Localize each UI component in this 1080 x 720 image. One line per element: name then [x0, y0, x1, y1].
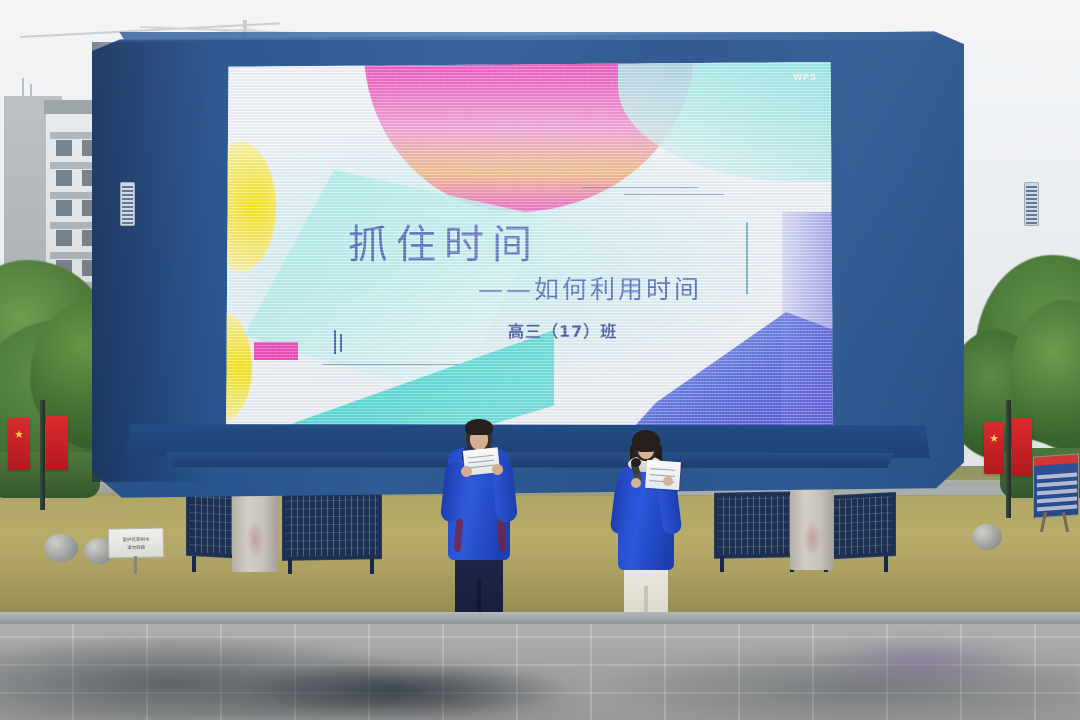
pavement-color-cast: [820, 636, 1020, 686]
red-banner: [1012, 418, 1032, 476]
slide-purple-edge: [782, 212, 833, 454]
fence-legs: [714, 556, 802, 572]
female-script-paper: [645, 460, 681, 490]
male-hand-left: [461, 466, 472, 477]
scaffold-rod: [30, 84, 32, 100]
red-banner: [46, 416, 68, 470]
star-icon: ★: [13, 429, 25, 441]
presentation-slide: 抓住时间 ——如何利用时间 高三（17）班 WPS: [226, 62, 833, 454]
fence-legs: [282, 558, 382, 574]
slide-title: 抓住时间: [348, 212, 540, 270]
led-frame-base-beam: [150, 452, 910, 468]
lamp-post: [40, 400, 45, 510]
led-display-panel[interactable]: 抓住时间 ——如何利用时间 高三（17）班 WPS: [226, 62, 833, 454]
red-banner: ★: [984, 422, 1004, 474]
vent-grille-icon: [120, 182, 135, 226]
slide-rule-line: [582, 187, 698, 188]
notice-board-legs: [1040, 512, 1070, 532]
notice-board: [1033, 453, 1079, 518]
microphone-head-icon: [631, 458, 641, 467]
stone-sphere: [44, 534, 78, 562]
female-hand-left: [631, 478, 641, 488]
male-hand-right: [492, 464, 503, 475]
vent-grille-icon: [1024, 182, 1039, 226]
lawn-sign-line2: 请勿践踏: [109, 544, 163, 553]
female-hand-right: [663, 476, 673, 486]
scaffold-rod: [22, 78, 24, 100]
slide-logo: WPS: [793, 72, 817, 82]
fence-panel: [714, 491, 802, 559]
lawn-sign-post: [134, 556, 137, 574]
stone-sphere: [972, 524, 1002, 550]
male-hair: [465, 419, 493, 435]
slide-tick-mark: [334, 330, 336, 354]
slide-subtitle: ——如何利用时间: [478, 270, 702, 306]
lamp-post: [1006, 400, 1011, 518]
slide-magenta-accent: [254, 342, 298, 360]
slide-rule-line: [624, 194, 724, 195]
lawn-warning-sign: 爱护花草树木 请勿践踏: [108, 528, 165, 559]
frame-shading: [92, 42, 212, 482]
slide-class-label: 高三（17）班: [508, 318, 617, 342]
foreground-shadow: [180, 660, 600, 720]
red-banner: ★: [8, 418, 30, 470]
fence-panel: [282, 491, 382, 561]
female-hair: [632, 430, 660, 452]
led-screen-top-edge: [116, 32, 940, 40]
star-icon: ★: [988, 433, 1000, 445]
photo-scene: ★ ★ 爱护花草树木 请勿践踏: [0, 0, 1080, 720]
slide-rule-line: [322, 364, 458, 365]
slide-tick-mark: [340, 334, 342, 352]
slide-vertical-rule: [746, 222, 748, 294]
